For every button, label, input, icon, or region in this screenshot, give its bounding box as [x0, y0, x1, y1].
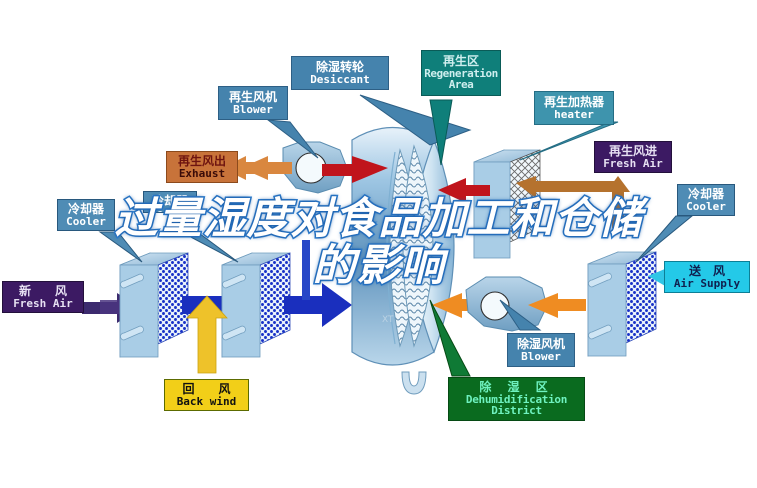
- label-regen-fresh-air-cn: 再生风进: [597, 145, 669, 158]
- label-back-wind-en: Back wind: [167, 396, 246, 408]
- label-regen-heater[interactable]: 再生加热器 heater: [534, 91, 614, 125]
- label-back-wind-cn: 回 风: [167, 383, 246, 396]
- label-exhaust-en: Exhaust: [169, 168, 235, 180]
- label-regeneration-area-en: Regeneration Area: [424, 68, 498, 91]
- label-desiccant-wheel[interactable]: 除湿转轮 Desiccant: [291, 56, 389, 90]
- label-regen-fresh-air-en: Fresh Air: [597, 158, 669, 170]
- label-fresh-air-en: Fresh Air: [5, 298, 81, 310]
- label-dehumidification-district[interactable]: 除 湿 区 Dehumidification District: [448, 377, 585, 421]
- label-regeneration-area-cn: 再生区: [424, 55, 498, 68]
- label-exhaust[interactable]: 再生风出 Exhaust: [166, 151, 238, 183]
- headline-line-2: 的影响: [0, 243, 757, 290]
- label-desiccant-wheel-en: Desiccant: [294, 74, 386, 86]
- label-regen-blower-cn: 再生风机: [221, 91, 285, 104]
- label-regen-fresh-air[interactable]: 再生风进 Fresh Air: [594, 141, 672, 173]
- headline-line-1: 过量湿度对食品加工和仓储: [0, 196, 757, 243]
- label-back-wind[interactable]: 回 风 Back wind: [164, 379, 249, 411]
- dehumidifier-schematic-image: XT: [0, 0, 757, 488]
- label-dehum-blower[interactable]: 除湿风机 Blower: [507, 333, 575, 367]
- label-regeneration-area[interactable]: 再生区 Regeneration Area: [421, 50, 501, 96]
- label-regen-heater-en: heater: [537, 109, 611, 121]
- wheel-watermark: XT: [382, 315, 394, 325]
- label-exhaust-cn: 再生风出: [169, 155, 235, 168]
- headline-overlay: 过量湿度对食品加工和仓储 的影响: [0, 196, 757, 290]
- label-dehum-blower-cn: 除湿风机: [510, 338, 572, 351]
- label-dehum-blower-en: Blower: [510, 351, 572, 363]
- label-regen-blower[interactable]: 再生风机 Blower: [218, 86, 288, 120]
- label-desiccant-wheel-cn: 除湿转轮: [294, 61, 386, 74]
- label-regen-heater-cn: 再生加热器: [537, 96, 611, 109]
- label-dehum-district-cn: 除 湿 区: [451, 381, 582, 394]
- label-regen-blower-en: Blower: [221, 104, 285, 116]
- label-dehum-district-en2: District: [451, 405, 582, 417]
